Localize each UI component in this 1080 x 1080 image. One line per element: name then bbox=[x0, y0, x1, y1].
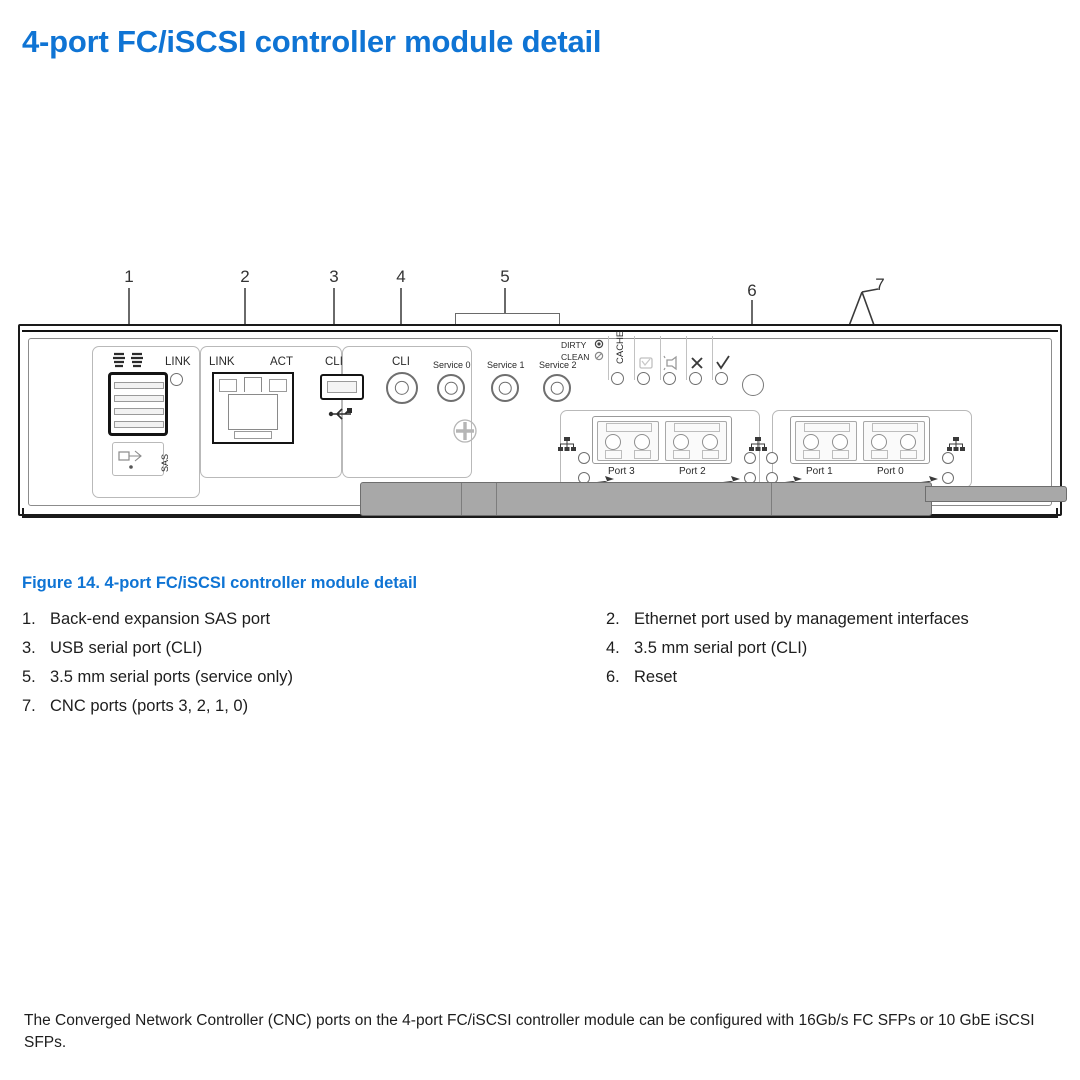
legend-text: USB serial port (CLI) bbox=[50, 637, 202, 661]
legend-left-column: 1.Back-end expansion SAS port 3.USB seri… bbox=[22, 608, 582, 724]
ok-check-icon bbox=[715, 355, 731, 371]
cnc-cage-right bbox=[790, 416, 930, 464]
legend-num: 5. bbox=[22, 666, 50, 690]
led-divider-1 bbox=[608, 336, 609, 380]
cnc-cage-left bbox=[592, 416, 732, 464]
led-divider-5 bbox=[712, 336, 713, 380]
module-ok-box-icon bbox=[638, 355, 654, 371]
cnc-port-label-3: Port 3 bbox=[608, 466, 635, 477]
sas-port-connector[interactable] bbox=[108, 372, 168, 436]
chassis-top-rail bbox=[22, 330, 1058, 332]
module-handle[interactable] bbox=[360, 482, 932, 516]
legend-num: 6. bbox=[606, 666, 634, 690]
legend-text: 3.5 mm serial ports (service only) bbox=[50, 666, 293, 690]
ethernet-rj45-port[interactable] bbox=[212, 372, 294, 444]
cnc-led-p3-a bbox=[578, 452, 590, 464]
serial-jack-service-1[interactable] bbox=[491, 374, 519, 402]
cache-state-icons bbox=[592, 339, 606, 365]
cnc-led-p2-a bbox=[744, 452, 756, 464]
usb-cli-label: CLI bbox=[325, 356, 343, 368]
module-status-led bbox=[637, 372, 650, 385]
led-divider-2 bbox=[634, 336, 635, 380]
legend-text: CNC ports (ports 3, 2, 1, 0) bbox=[50, 695, 248, 719]
led-divider-3 bbox=[660, 336, 661, 380]
ethernet-link-label: LINK bbox=[209, 356, 235, 368]
callout-number-4: 4 bbox=[396, 268, 405, 285]
cnc-led-p0-b bbox=[942, 472, 954, 484]
callout-number-2: 2 bbox=[240, 268, 249, 285]
cache-label: CACHE bbox=[615, 331, 626, 364]
figure-caption: Figure 14. 4-port FC/iSCSI controller mo… bbox=[22, 574, 417, 593]
serial-jack-cli[interactable] bbox=[386, 372, 418, 404]
cache-dirty-label: DIRTY bbox=[561, 340, 586, 350]
service-1-label: Service 1 bbox=[487, 360, 525, 370]
legend-num: 4. bbox=[606, 637, 634, 661]
sas-marking-label: SAS bbox=[160, 454, 170, 472]
service-0-label: Service 0 bbox=[433, 360, 471, 370]
legend-text: Reset bbox=[634, 666, 677, 690]
legend-num: 1. bbox=[22, 608, 50, 632]
list-item: 3.USB serial port (CLI) bbox=[22, 637, 582, 661]
list-item: 5.3.5 mm serial ports (service only) bbox=[22, 666, 582, 690]
reset-button[interactable] bbox=[742, 374, 764, 396]
callout-leader-5 bbox=[504, 288, 506, 314]
cnc-port-label-1: Port 1 bbox=[806, 466, 833, 477]
cnc-led-p1-a bbox=[766, 452, 778, 464]
sas-connector-icon bbox=[110, 352, 146, 368]
sas-speed-icon bbox=[116, 446, 146, 472]
cache-led-icon bbox=[611, 372, 624, 385]
legend-num: 3. bbox=[22, 637, 50, 661]
network-icon-right bbox=[946, 436, 966, 452]
legend-num: 2. bbox=[606, 608, 634, 632]
fault-x-icon bbox=[689, 355, 705, 371]
footer-note: The Converged Network Controller (CNC) p… bbox=[24, 1010, 1064, 1055]
cnc-port-label-0: Port 0 bbox=[877, 466, 904, 477]
screw-icon bbox=[452, 418, 478, 444]
ok-led bbox=[715, 372, 728, 385]
sas-link-label: LINK bbox=[165, 356, 191, 368]
serial-jack-service-0[interactable] bbox=[437, 374, 465, 402]
cnc-led-p0-a bbox=[942, 452, 954, 464]
page-title: 4-port FC/iSCSI controller module detail bbox=[22, 24, 601, 60]
usb-serial-port[interactable] bbox=[320, 374, 364, 400]
module-handle-latch bbox=[925, 486, 1067, 502]
list-item: 1.Back-end expansion SAS port bbox=[22, 608, 582, 632]
serial-jack-service-2[interactable] bbox=[543, 374, 571, 402]
network-icon-left bbox=[557, 436, 577, 452]
callout-number-1: 1 bbox=[124, 268, 133, 285]
list-item: 7.CNC ports (ports 3, 2, 1, 0) bbox=[22, 695, 582, 719]
cnc-port-label-2: Port 2 bbox=[679, 466, 706, 477]
sas-link-led bbox=[170, 373, 183, 386]
legend-text: Back-end expansion SAS port bbox=[50, 608, 270, 632]
fault-led bbox=[689, 372, 702, 385]
legend-right-column: 2.Ethernet port used by management inter… bbox=[606, 608, 1076, 695]
callout-number-5: 5 bbox=[500, 268, 509, 285]
jack-cli-label: CLI bbox=[392, 356, 410, 368]
locate-led bbox=[663, 372, 676, 385]
network-icon-mid bbox=[748, 436, 768, 452]
legend-text: 3.5 mm serial port (CLI) bbox=[634, 637, 807, 661]
ethernet-act-label: ACT bbox=[270, 356, 293, 368]
controller-module-figure: 1 2 3 4 5 6 7 LINK SAS LINK A bbox=[0, 260, 1080, 550]
usb-icon bbox=[328, 406, 356, 422]
legend-text: Ethernet port used by management interfa… bbox=[634, 608, 969, 632]
list-item: 2.Ethernet port used by management inter… bbox=[606, 608, 1076, 632]
locate-beacon-icon bbox=[663, 355, 681, 371]
legend-num: 7. bbox=[22, 695, 50, 719]
callout-number-3: 3 bbox=[329, 268, 338, 285]
list-item: 6.Reset bbox=[606, 666, 1076, 690]
led-divider-4 bbox=[686, 336, 687, 380]
cache-clean-label: CLEAN bbox=[561, 352, 589, 362]
list-item: 4.3.5 mm serial port (CLI) bbox=[606, 637, 1076, 661]
callout-number-6: 6 bbox=[747, 282, 756, 299]
